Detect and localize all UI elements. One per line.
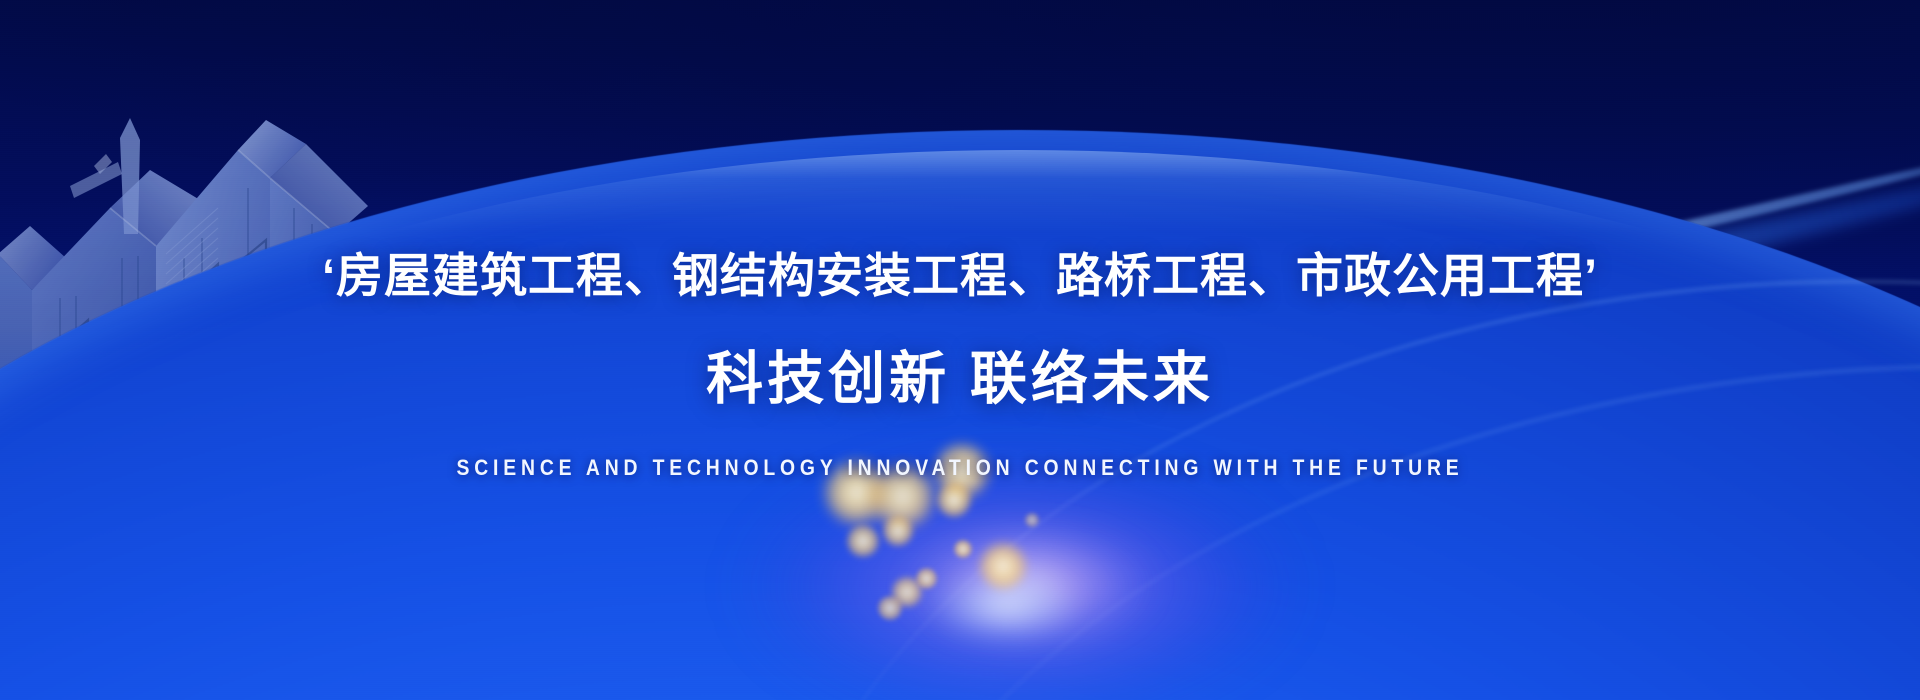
white-core-glow — [905, 560, 1105, 650]
banner-subtitle-english: SCIENCE AND TECHNOLOGY INNOVATION CONNEC… — [115, 455, 1805, 481]
banner-slogan: 科技创新 联络未来 — [0, 348, 1920, 411]
banner-headline: ‘房屋建筑工程、钢结构安装工程、路桥工程、市政公用工程’ — [0, 250, 1920, 303]
hero-banner: ‘房屋建筑工程、钢结构安装工程、路桥工程、市政公用工程’ 科技创新 联络未来 S… — [0, 0, 1920, 700]
